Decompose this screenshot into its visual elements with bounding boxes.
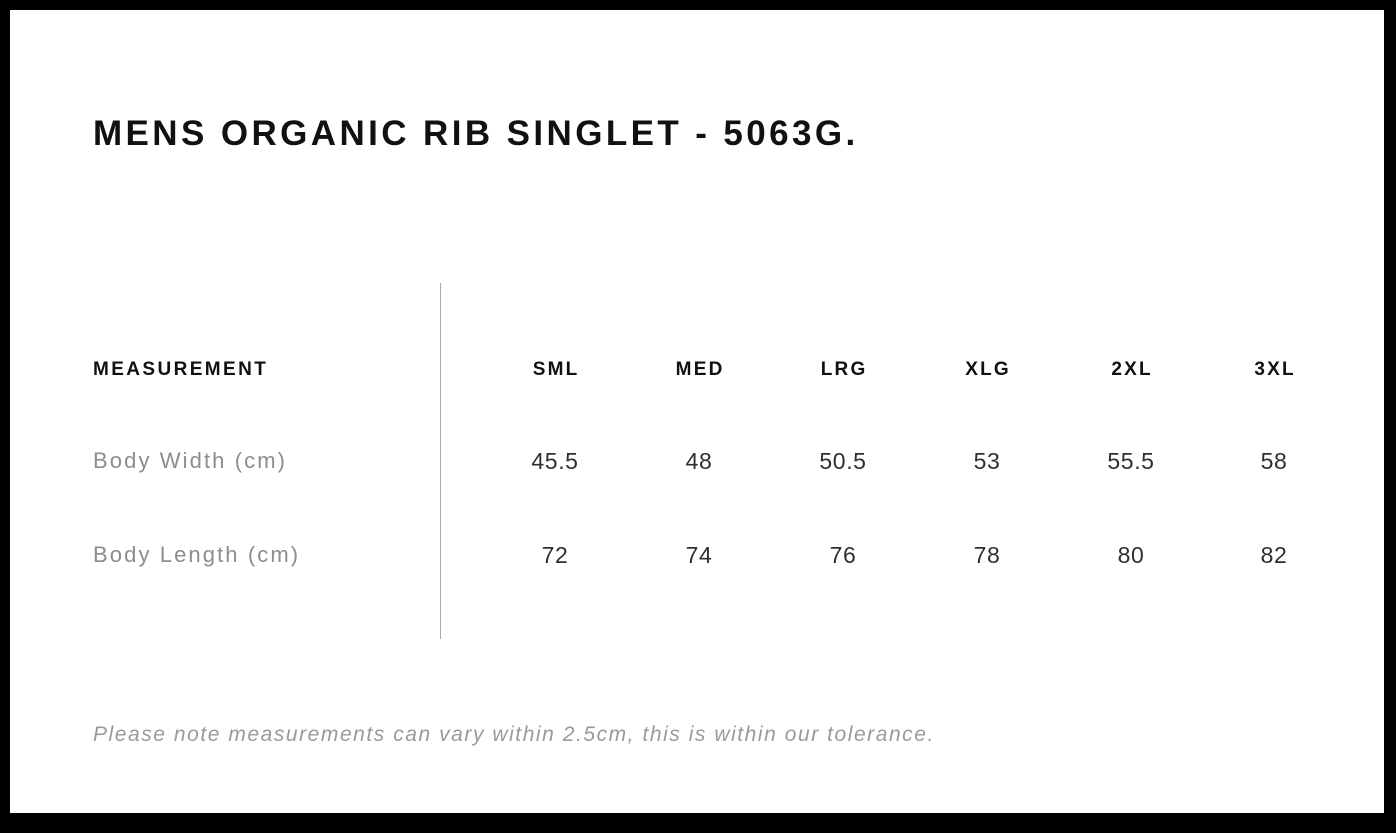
column-header-lrg: LRG [773, 350, 913, 390]
column-header-xlg: XLG [917, 350, 1057, 390]
cell-body-width-lrg: 50.5 [773, 441, 913, 481]
cell-body-width-2xl: 55.5 [1061, 441, 1201, 481]
table-row: Body Length (cm) 72 74 76 78 80 82 [10, 535, 1384, 575]
cell-body-length-3xl: 82 [1204, 535, 1344, 575]
cell-body-width-med: 48 [629, 441, 769, 481]
size-chart-card: MENS ORGANIC RIB SINGLET - 5063G. MEASUR… [10, 10, 1384, 813]
measurement-table: MEASUREMENT SML MED LRG XLG 2XL 3XL Body… [10, 10, 1384, 813]
table-row: Body Width (cm) 45.5 48 50.5 53 55.5 58 [10, 441, 1384, 481]
cell-body-length-med: 74 [629, 535, 769, 575]
column-header-measurement: MEASUREMENT [93, 350, 268, 390]
column-header-2xl: 2XL [1061, 350, 1201, 390]
cell-body-length-xlg: 78 [917, 535, 1057, 575]
column-header-3xl: 3XL [1204, 350, 1344, 390]
cell-body-length-sml: 72 [485, 535, 625, 575]
row-label-body-width: Body Width (cm) [93, 441, 287, 481]
column-header-med: MED [629, 350, 769, 390]
tolerance-note: Please note measurements can vary within… [93, 724, 935, 745]
column-header-sml: SML [485, 350, 625, 390]
cell-body-width-3xl: 58 [1204, 441, 1344, 481]
cell-body-length-2xl: 80 [1061, 535, 1201, 575]
row-label-body-length: Body Length (cm) [93, 535, 300, 575]
cell-body-width-xlg: 53 [917, 441, 1057, 481]
table-header-row: MEASUREMENT SML MED LRG XLG 2XL 3XL [10, 350, 1384, 390]
cell-body-length-lrg: 76 [773, 535, 913, 575]
cell-body-width-sml: 45.5 [485, 441, 625, 481]
